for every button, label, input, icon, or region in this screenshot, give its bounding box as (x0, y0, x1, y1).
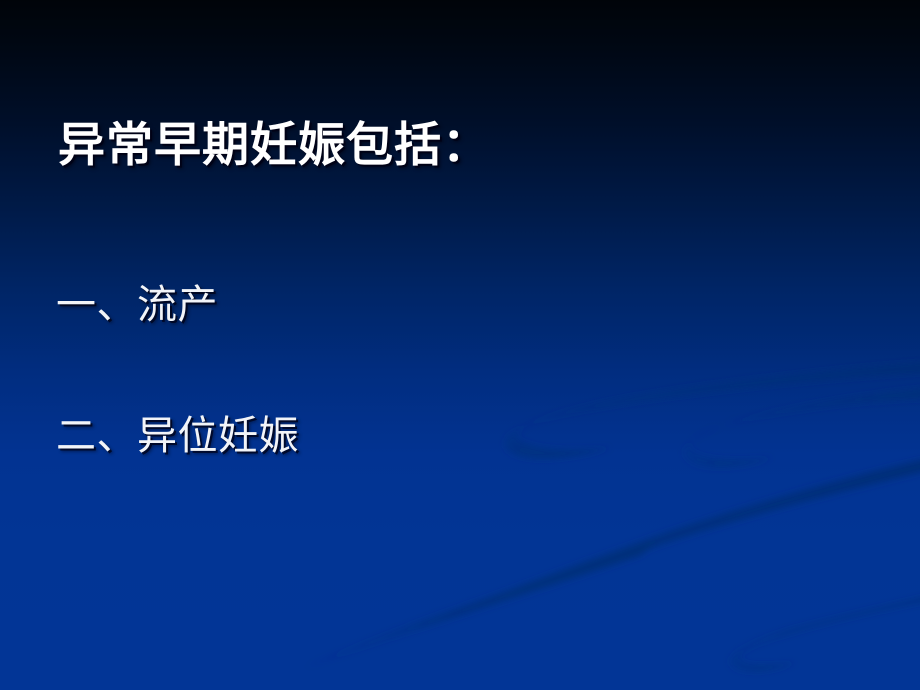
content-placeholder: 一、流产 二、异位妊娠 (56, 282, 856, 460)
page-title: 异常早期妊娠包括： (58, 118, 858, 173)
presentation-slide: 异常早期妊娠包括： 一、流产 二、异位妊娠 (0, 0, 920, 690)
list-item: 一、流产 (56, 282, 856, 328)
bullet-spacer (56, 328, 856, 413)
list-item: 二、异位妊娠 (56, 413, 856, 459)
title-placeholder: 异常早期妊娠包括： (58, 118, 858, 173)
